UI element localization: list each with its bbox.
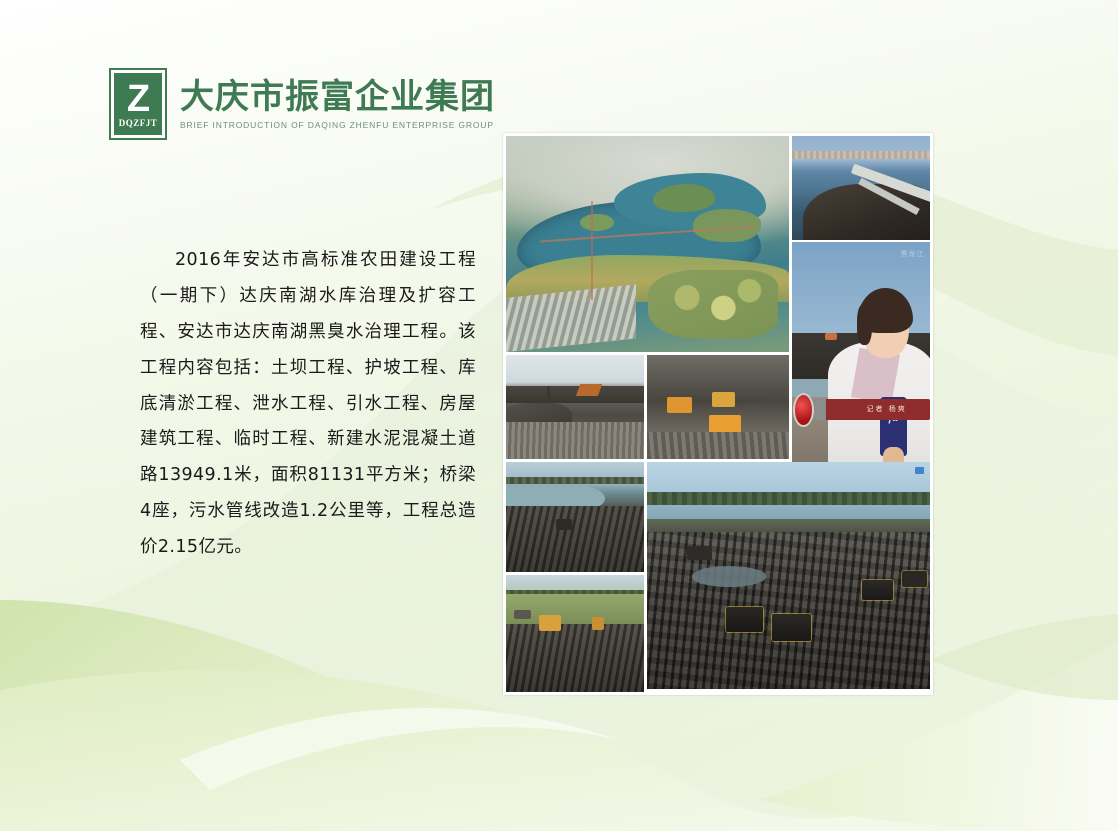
company-logo: Z DQZFJT 大庆市振富企业集团 BRIEF INTRODUCTION OF… xyxy=(109,68,495,140)
slide-canvas: Z DQZFJT 大庆市振富企业集团 BRIEF INTRODUCTION OF… xyxy=(0,0,1118,831)
photo-shoreline-embankment xyxy=(792,136,930,240)
logo-wordmark: 大庆市振富企业集团 BRIEF INTRODUCTION OF DAQING Z… xyxy=(180,68,495,130)
photo-field-clearing xyxy=(506,575,644,692)
photo-lake-dredging xyxy=(506,462,644,572)
photo-news-reporter: fu 黑龙江 记者 杨爽 xyxy=(792,242,930,470)
lower-third-dot-icon xyxy=(793,393,814,427)
reporter-name-label: 记者 杨爽 xyxy=(867,398,907,419)
photo-site-panorama xyxy=(647,462,930,689)
company-name-cn: 大庆市振富企业集团 xyxy=(180,80,495,116)
company-name-en: BRIEF INTRODUCTION OF DAQING ZHENFU ENTE… xyxy=(180,120,495,130)
station-watermark: 黑龙江 xyxy=(900,249,924,259)
logo-mark-icon: Z DQZFJT xyxy=(109,68,167,140)
photo-excavators-spoil xyxy=(506,355,644,459)
project-description-paragraph: 2016年安达市高标准农田建设工程（一期下）达庆南湖水库治理及扩容工程、安达市达… xyxy=(140,243,476,566)
photo-bulldozers-slope xyxy=(647,355,789,459)
logo-mark-inner: Z DQZFJT xyxy=(114,73,162,135)
logo-letter: Z xyxy=(127,82,149,116)
photo-collage: fu 黑龙江 记者 杨爽 xyxy=(503,133,933,695)
logo-abbreviation: DQZFJT xyxy=(119,118,158,128)
video-badge-icon xyxy=(915,467,924,474)
photo-aerial-master-plan xyxy=(506,136,789,352)
